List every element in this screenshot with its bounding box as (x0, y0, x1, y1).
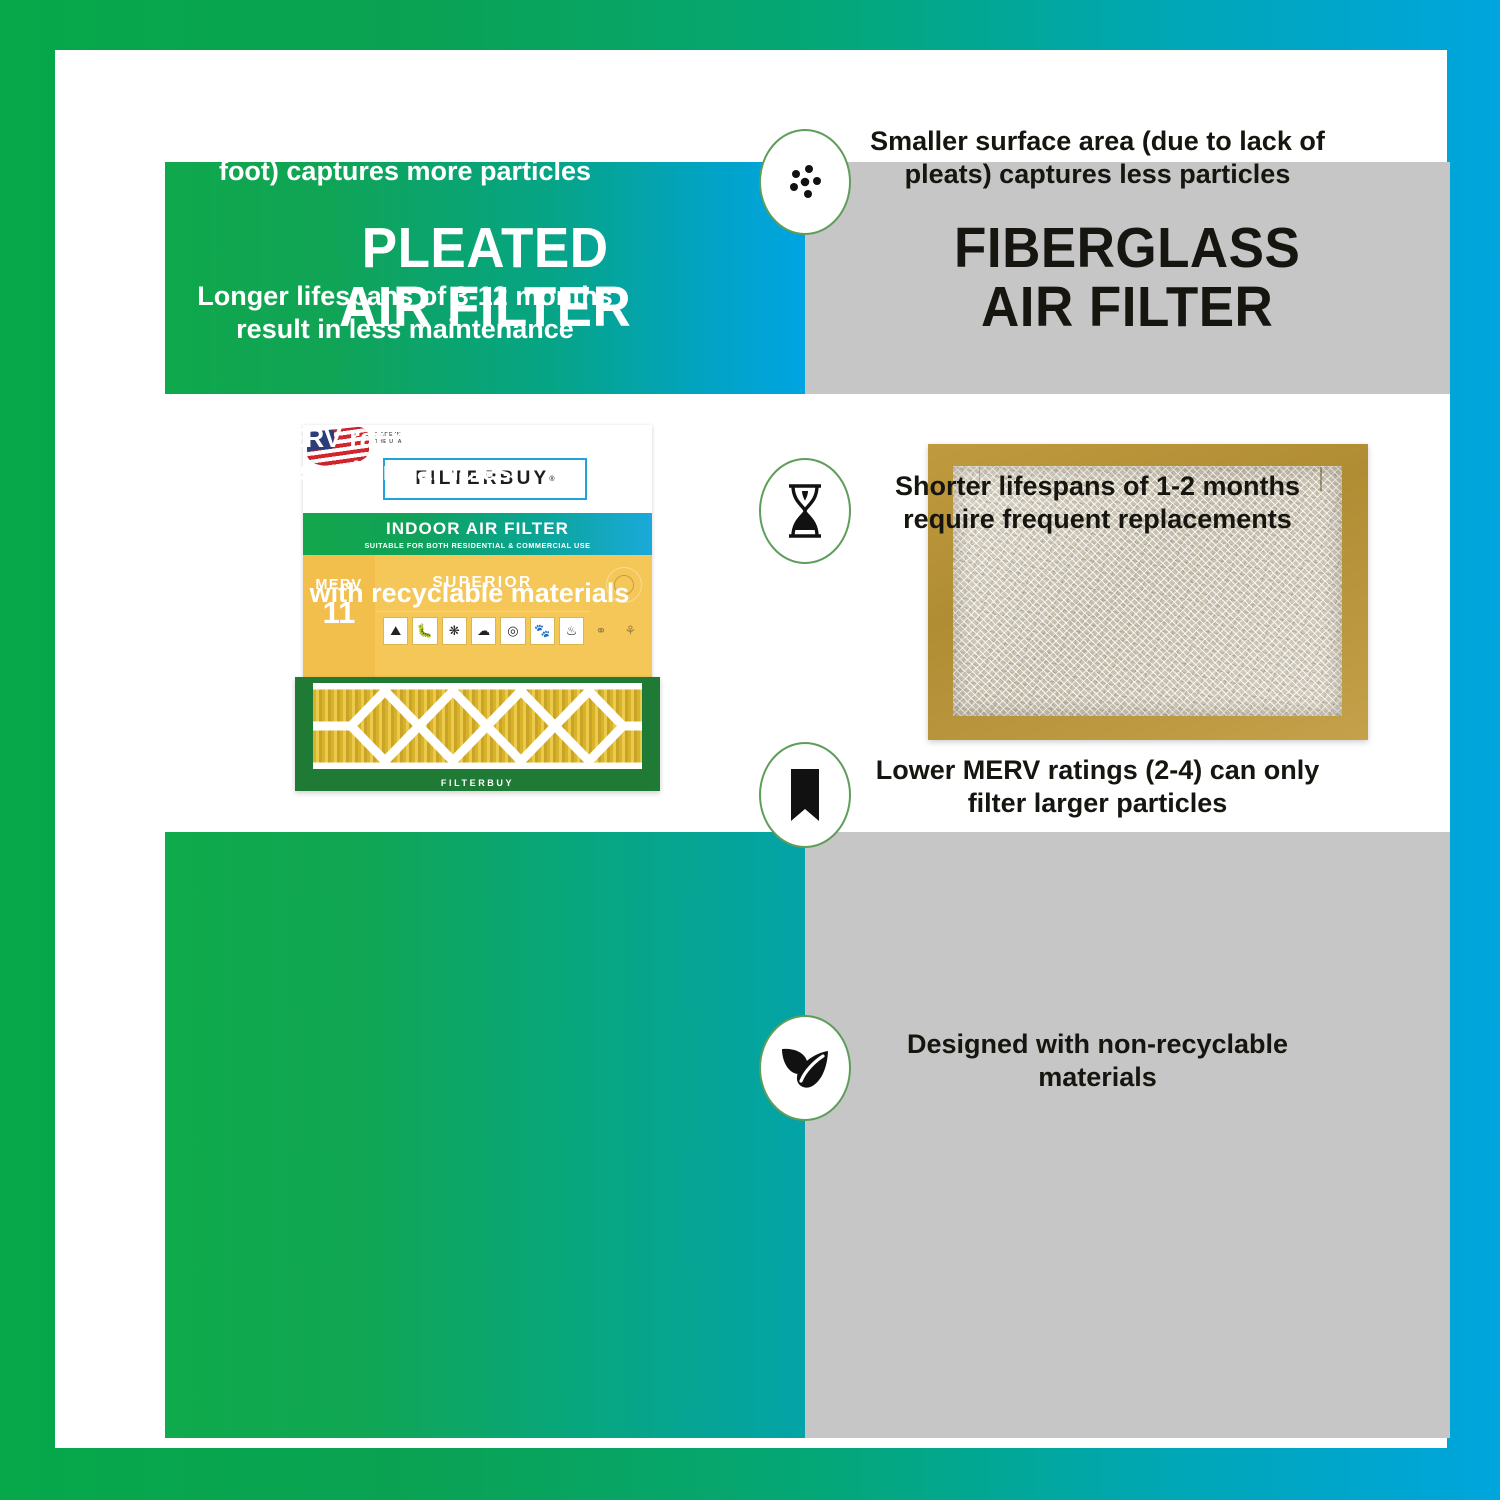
check-icon (91, 424, 153, 486)
pleated-footer-brand: FILTERBUY (295, 778, 660, 788)
leaf-icon (759, 1015, 851, 1121)
row-1-left: Larger surface area (8-14 pleats per foo… (55, 122, 695, 188)
comparison-right-bg (805, 832, 1450, 1438)
bookmark-icon (759, 742, 851, 848)
comparison-rows: Larger surface area (8-14 pleats per foo… (55, 50, 1340, 656)
comparison-row: Designed with recyclable materials Desig… (55, 528, 1340, 658)
row-2-left: Longer lifespans of 3-12 months result i… (55, 280, 695, 346)
row-3-icon-badge (757, 740, 853, 850)
comparison-left-bg (165, 832, 805, 1438)
check-icon (91, 124, 153, 186)
pleated-media-frame: FILTERBUY (295, 677, 660, 791)
check-icon (91, 562, 153, 624)
content-canvas: PLEATED AIR FILTER FIBERGLASS AIR FILTER (55, 50, 1447, 1448)
row-2-left-text: Longer lifespans of 3-12 months result i… (167, 280, 695, 346)
row-4-left: Designed with recyclable materials (55, 562, 695, 624)
comparison-row: Longer lifespans of 3-12 months result i… (55, 248, 1340, 378)
comparison-row: Larger surface area (8-14 pleats per foo… (55, 80, 1340, 230)
row-3-right-text: Lower MERV ratings (2-4) can only filter… (855, 754, 1340, 820)
row-4-icon-badge (757, 1013, 853, 1123)
row-1-icon-badge (757, 127, 853, 237)
comparison-row: Higher MERV ratings (8-13) can filter sm… (55, 390, 1340, 520)
pleat-support-grid (313, 683, 642, 769)
row-4-left-text: Designed with recyclable materials (167, 577, 695, 610)
row-4-right-text: Designed with non-recyclable materials (855, 1028, 1340, 1094)
row-1-left-text: Larger surface area (8-14 pleats per foo… (167, 122, 695, 188)
row-3-left: Higher MERV ratings (8-13) can filter sm… (55, 422, 695, 488)
row-1-right-text: Smaller surface area (due to lack of ple… (855, 125, 1340, 191)
comparison-panel (165, 832, 1450, 1438)
row-3-left-text: Higher MERV ratings (8-13) can filter sm… (167, 422, 695, 488)
check-icon (91, 282, 153, 344)
outer-gradient-frame: PLEATED AIR FILTER FIBERGLASS AIR FILTER (0, 0, 1500, 1500)
particles-icon (759, 129, 851, 235)
